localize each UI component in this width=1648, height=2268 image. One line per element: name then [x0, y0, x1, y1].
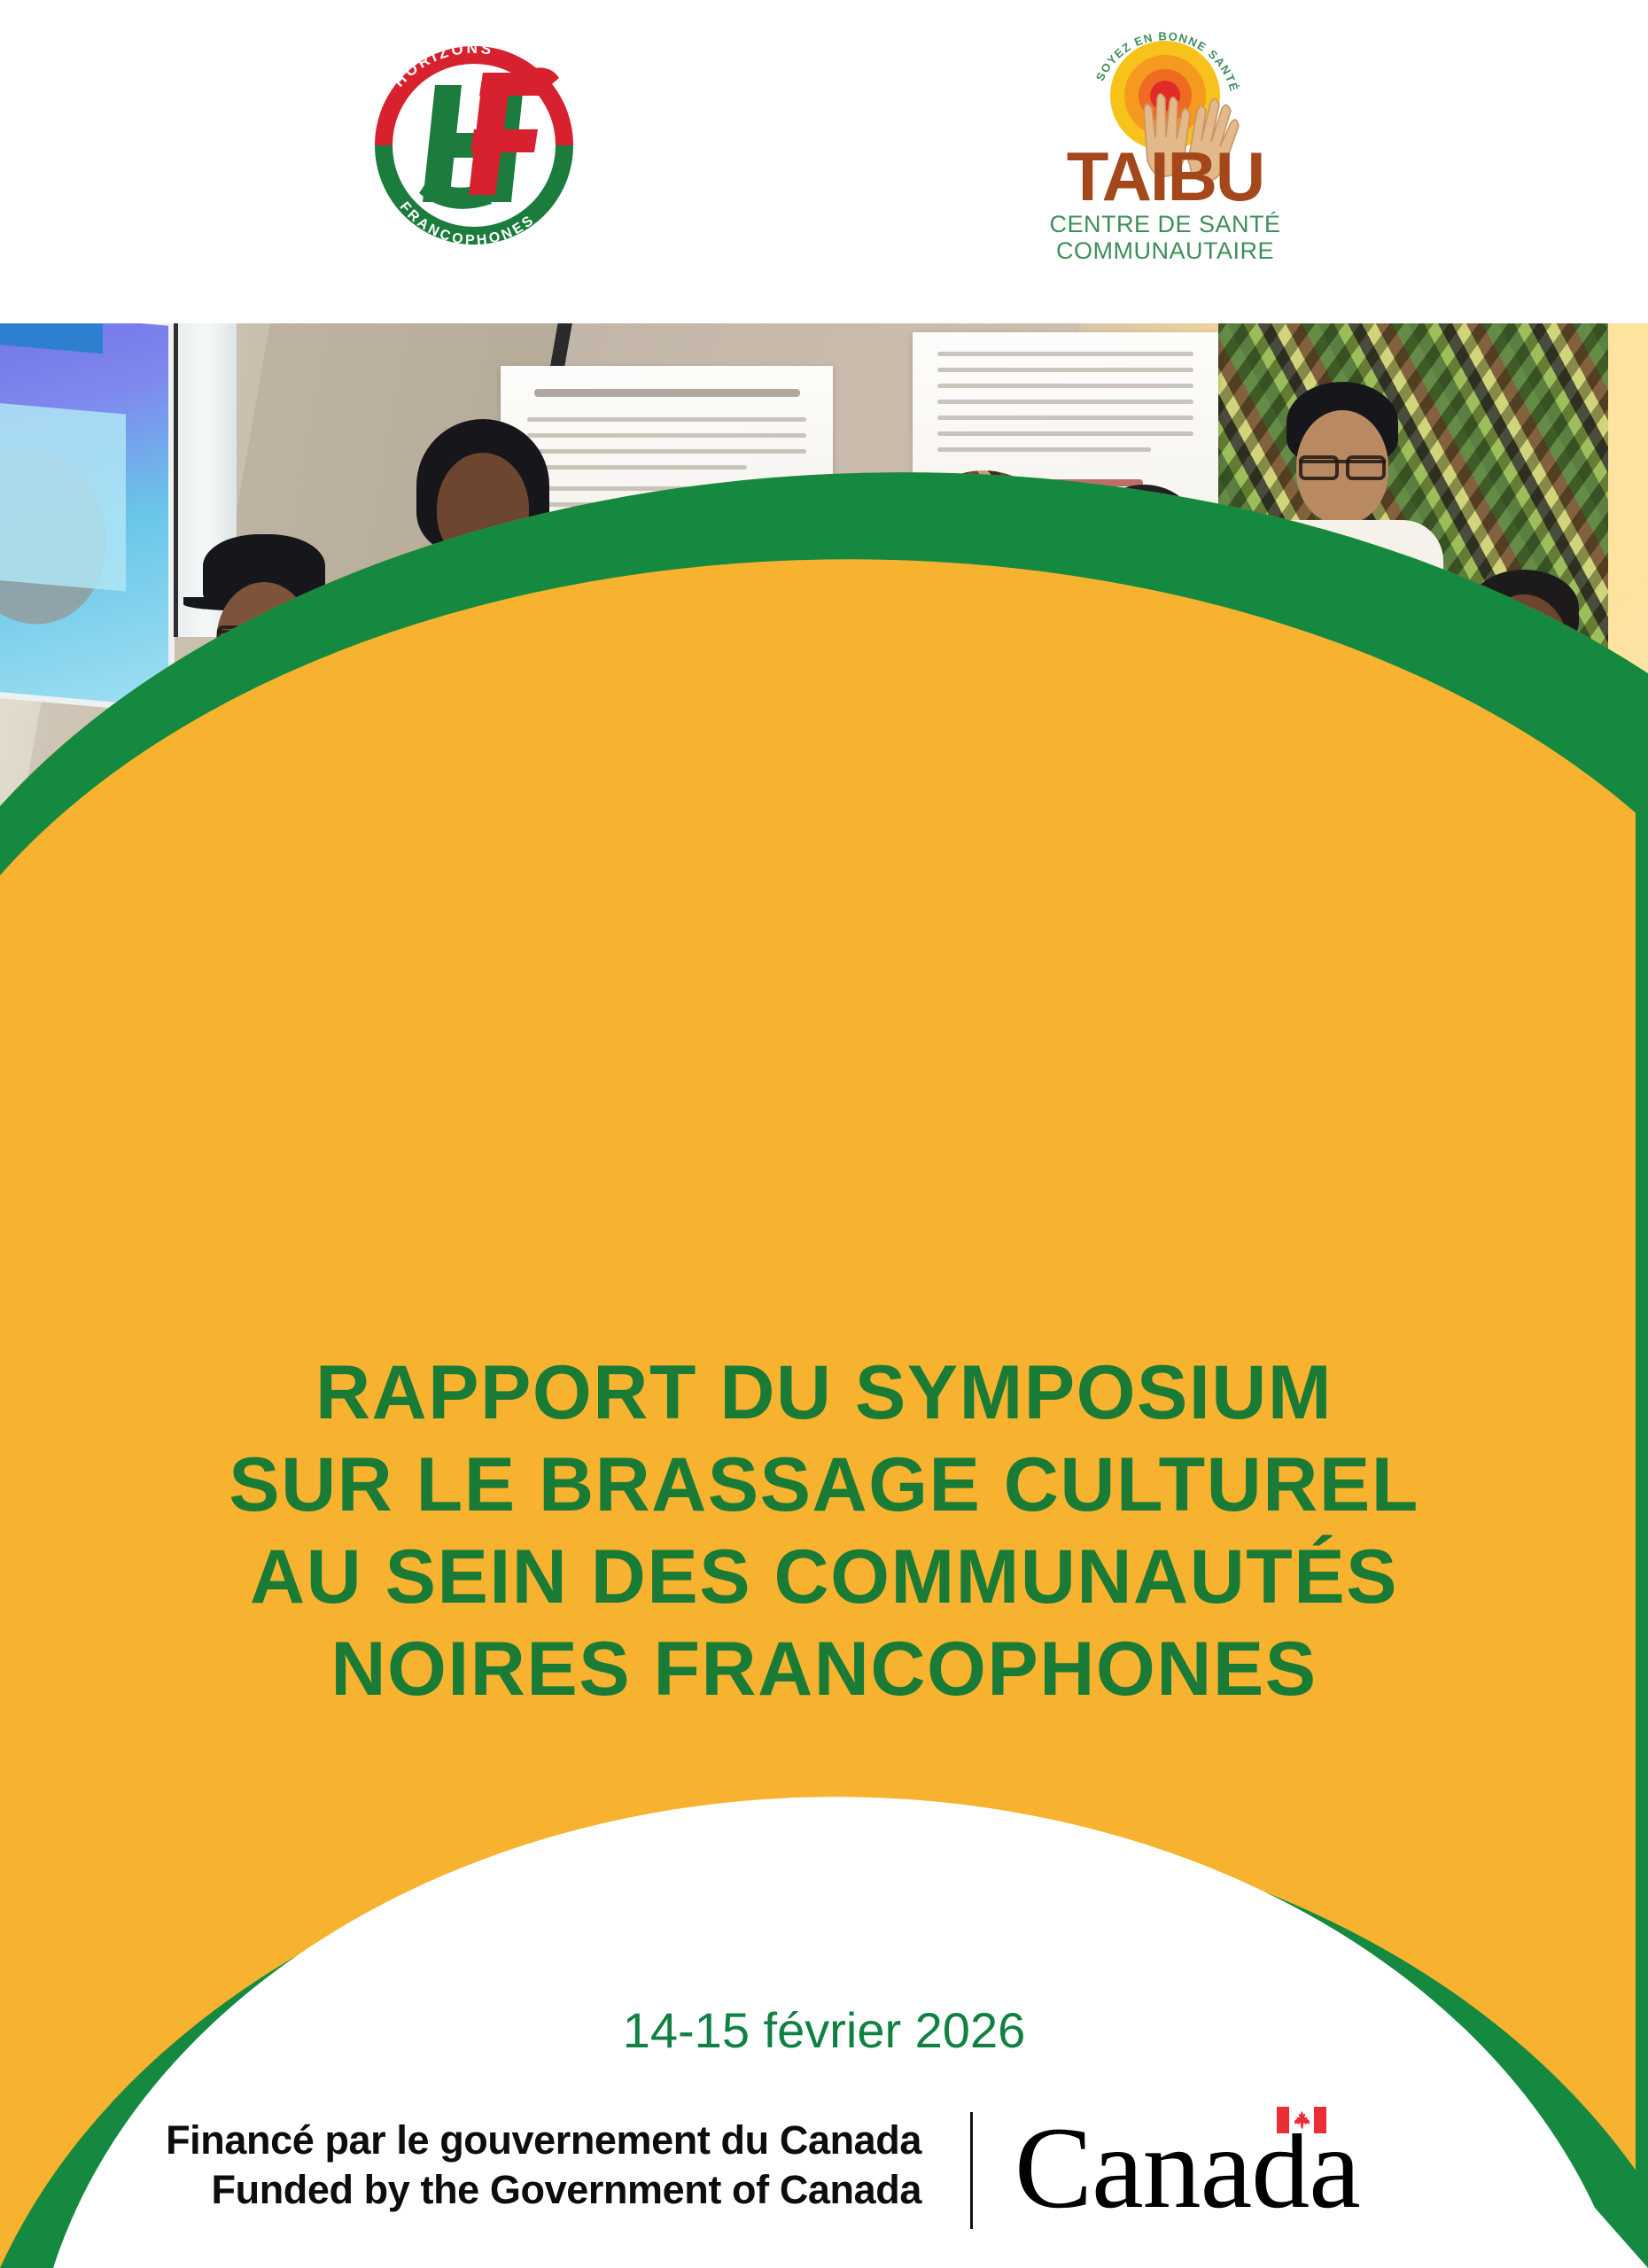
horizons-francophones-logo: HORIZONS FRANCOPHONES — [350, 19, 598, 268]
funder-statement: Financé par le gouvernement du Canada Fu… — [133, 2116, 921, 2215]
photo-person-front-4 — [797, 589, 992, 979]
taibu-logo: SOYEZ EN BONNE SANTÉ TAIBU CENTRE DE SAN… — [1023, 11, 1307, 268]
title-line-1: RAPPORT DU SYMPOSIUM — [0, 1347, 1648, 1439]
title-line-2: SUR LE BRASSAGE CULTUREL — [0, 1439, 1648, 1531]
taibu-subtitle-line1: CENTRE DE SANTÉ — [1049, 211, 1280, 237]
photo-person-front-3 — [592, 577, 796, 975]
funder-statement-fr: Financé par le gouvernement du Canada — [133, 2116, 921, 2165]
photo-blue-patterned-tunic — [593, 742, 795, 977]
taibu-subtitle-line2: COMMUNAUTAIRE — [1056, 237, 1274, 264]
photo-person-front-2 — [390, 605, 594, 977]
funder-lockup: Financé par le gouvernement du Canada Fu… — [0, 2107, 1648, 2257]
canada-wordmark: Canada — [1014, 2101, 1395, 2243]
title-line-3: AU SEIN DES COMMUNAUTÉS — [0, 1531, 1648, 1623]
photo-projection-screen — [0, 323, 168, 707]
funder-statement-en: Funded by the Government of Canada — [133, 2165, 921, 2215]
taibu-wordmark: TAIBU — [1067, 137, 1264, 215]
photo-person-front-6 — [1418, 573, 1630, 981]
page-title: RAPPORT DU SYMPOSIUM SUR LE BRASSAGE CUL… — [0, 1347, 1648, 1715]
photo-person-front-5 — [1001, 555, 1223, 981]
canada-flag-icon — [1277, 2107, 1326, 2133]
symposium-group-photo — [0, 323, 1648, 1103]
funder-divider — [970, 2112, 973, 2229]
header-logo-bar: HORIZONS FRANCOPHONES — [0, 0, 1648, 323]
photo-person-front-1 — [149, 536, 379, 961]
photo-person-back-7 — [1240, 387, 1444, 804]
symposium-date: 14-15 février 2026 — [0, 2000, 1648, 2061]
title-line-4: NOIRES FRANCOPHONES — [0, 1623, 1648, 1715]
report-cover-page: HORIZONS FRANCOPHONES — [0, 0, 1648, 2268]
